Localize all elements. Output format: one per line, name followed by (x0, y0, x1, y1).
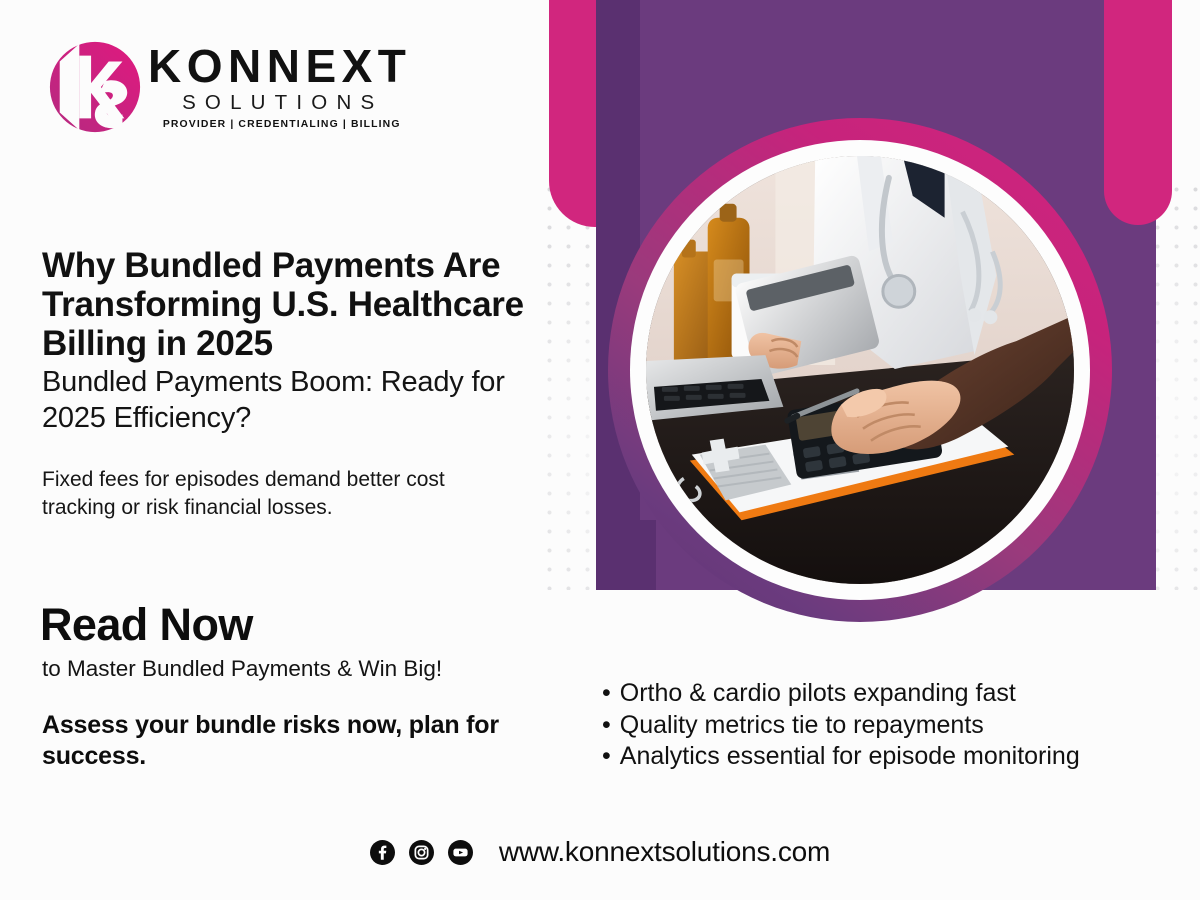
logo-mark-icon (46, 38, 144, 136)
social-links (370, 840, 473, 865)
list-item: Ortho & cardio pilots expanding fast (602, 678, 1080, 710)
cta-read-now[interactable]: Read Now (40, 602, 253, 647)
poster-canvas: KONNEXT SOLUTIONS PROVIDER | CREDENTIALI… (0, 0, 1200, 900)
logo-subword: SOLUTIONS (148, 91, 411, 115)
closing-statement: Assess your bundle risks now, plan for s… (42, 710, 512, 771)
subheadline: Bundled Payments Boom: Ready for 2025 Ef… (42, 365, 542, 437)
body-copy: Fixed fees for episodes demand better co… (42, 466, 522, 522)
instagram-icon[interactable] (409, 840, 434, 865)
footer-bar: www.konnextsolutions.com (0, 836, 1200, 868)
hero-circle (608, 118, 1112, 622)
logo-wordmark: KONNEXT (148, 44, 411, 89)
list-item: Quality metrics tie to repayments (602, 710, 1080, 742)
youtube-icon[interactable] (448, 840, 473, 865)
facebook-icon[interactable] (370, 840, 395, 865)
brand-logo: KONNEXT SOLUTIONS PROVIDER | CREDENTIALI… (46, 38, 411, 136)
magenta-panel-right (1104, 0, 1172, 225)
cta-subtext: to Master Bundled Payments & Win Big! (42, 655, 442, 682)
logo-tagline: PROVIDER | CREDENTIALING | BILLING (148, 119, 411, 130)
list-item: Analytics essential for episode monitori… (602, 741, 1080, 773)
page-title: Why Bundled Payments Are Transforming U.… (42, 246, 542, 363)
hero-photo (646, 156, 1074, 584)
website-url[interactable]: www.konnextsolutions.com (499, 836, 830, 868)
highlight-list: Ortho & cardio pilots expanding fast Qua… (602, 678, 1080, 773)
